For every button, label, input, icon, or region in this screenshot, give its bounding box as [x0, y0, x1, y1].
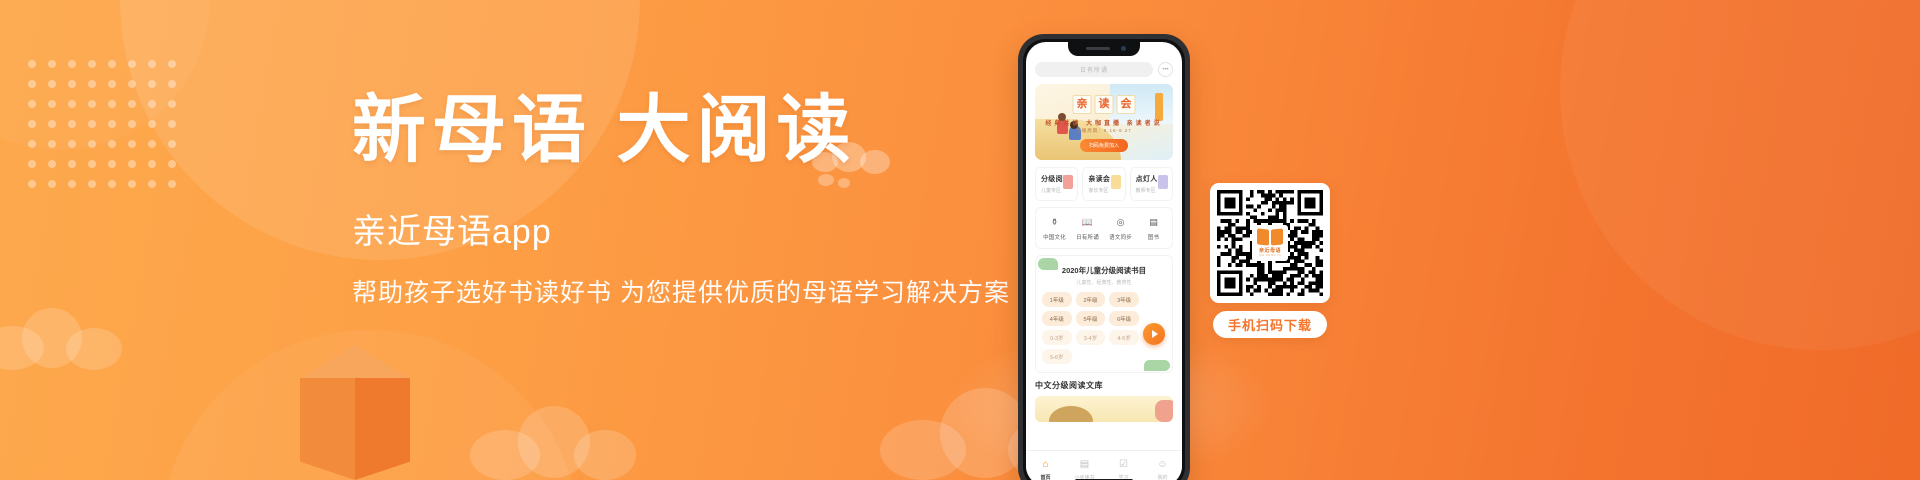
category-card[interactable]: 分级阅读儿童专区: [1035, 167, 1078, 201]
phone-notch: [1068, 42, 1140, 56]
hero-ribbon: [1155, 93, 1163, 121]
dot: [68, 60, 76, 68]
library-blob: [1155, 400, 1173, 422]
speaker-icon: [1086, 47, 1110, 50]
more-menu-icon[interactable]: •••: [1158, 62, 1173, 77]
dot: [28, 180, 36, 188]
cloud-decoration-left: [0, 300, 130, 370]
dot: [28, 100, 36, 108]
dot: [48, 140, 56, 148]
dot: [88, 80, 96, 88]
dot: [88, 100, 96, 108]
tab-label: 首页: [1026, 474, 1065, 480]
age-chip[interactable]: 5-6岁: [1042, 349, 1072, 364]
decorative-circle-top-left-small: [0, 0, 210, 150]
quick-icon-label: 中国文化: [1038, 233, 1071, 241]
booklist-card[interactable]: 2020年儿童分级阅读书目 儿童性、经典性、教育性 1年级2年级3年级4年级5年…: [1035, 255, 1173, 373]
dot: [128, 120, 136, 128]
dot: [128, 80, 136, 88]
dot: [68, 80, 76, 88]
dot: [28, 80, 36, 88]
qr-logo-name: 亲近母语: [1259, 247, 1281, 254]
dot: [128, 160, 136, 168]
hero-join-button[interactable]: 扫码免费加入: [1080, 139, 1128, 152]
grade-chip[interactable]: 2年级: [1076, 292, 1106, 307]
recite-icon: 📖: [1081, 215, 1095, 229]
section-title: 中文分级阅读文库: [1035, 380, 1173, 391]
promo-banner: 新母语 大阅读 亲近母语app 帮助孩子选好书读好书 为您提供优质的母语学习解决…: [0, 0, 1920, 480]
category-card[interactable]: 点灯人教师专区: [1130, 167, 1173, 201]
banner-copy: 新母语 大阅读 亲近母语app 帮助孩子选好书读好书 为您提供优质的母语学习解决…: [352, 88, 1052, 310]
dot: [148, 100, 156, 108]
age-chip[interactable]: 3-4岁: [1076, 330, 1106, 345]
book-yellow-icon: [1111, 175, 1121, 189]
dot: [148, 120, 156, 128]
dot: [88, 60, 96, 68]
qr-code[interactable]: 亲近母语 QIN JIN MU YU: [1217, 190, 1323, 296]
tab-reading[interactable]: ▤小步读书: [1065, 458, 1104, 480]
dot: [108, 120, 116, 128]
grade-chip[interactable]: 1年级: [1042, 292, 1072, 307]
library-card[interactable]: [1035, 396, 1173, 422]
dot: [28, 160, 36, 168]
dot: [148, 80, 156, 88]
dot: [68, 160, 76, 168]
bottom-tab-bar: ⌂首页▤小步读书☑学习☺我的: [1026, 450, 1182, 480]
dot: [68, 140, 76, 148]
library-arc: [1049, 406, 1093, 422]
grade-chip[interactable]: 5年级: [1076, 311, 1106, 326]
phone-screen: 日有所诵 •••: [1026, 42, 1182, 480]
more-dots: •••: [1162, 67, 1168, 73]
quick-icon-label: 图书: [1137, 233, 1170, 241]
scan-download-label: 手机扫码下载: [1228, 315, 1312, 334]
decorative-circle-bottom-left: [160, 330, 580, 480]
dot: [68, 180, 76, 188]
quick-icon-item[interactable]: ▤图书: [1137, 215, 1170, 241]
tab-study[interactable]: ☑学习: [1104, 458, 1143, 480]
cube-decoration: [300, 345, 410, 480]
phone-mockup: 日有所诵 •••: [1018, 34, 1190, 480]
dot: [148, 160, 156, 168]
play-icon[interactable]: [1143, 323, 1165, 345]
scan-download-button[interactable]: 手机扫码下载: [1213, 311, 1327, 338]
dot: [88, 160, 96, 168]
tagline: 帮助孩子选好书读好书 为您提供优质的母语学习解决方案: [352, 276, 1052, 310]
grade-chip[interactable]: 4年级: [1042, 311, 1072, 326]
search-bar: 日有所诵 •••: [1035, 62, 1173, 77]
dot: [68, 120, 76, 128]
dot: [48, 120, 56, 128]
hero-char-2: 读: [1095, 95, 1114, 114]
tab-profile[interactable]: ☺我的: [1143, 458, 1182, 480]
dot: [168, 80, 176, 88]
dot: [88, 120, 96, 128]
dot: [148, 60, 156, 68]
sync-icon: ◎: [1114, 215, 1128, 229]
dot: [108, 80, 116, 88]
dot: [108, 140, 116, 148]
age-chip[interactable]: 4-5岁: [1109, 330, 1139, 345]
app-hero-banner[interactable]: 亲 读 会 经典共读 大咖直播 亲读者说 直播周期：9.16-9.27 扫码免费…: [1035, 84, 1173, 160]
quick-icon-label: 语文同步: [1104, 233, 1137, 241]
books-icon: ▤: [1147, 215, 1161, 229]
quick-icon-item[interactable]: ◎语文同步: [1104, 215, 1137, 241]
dot: [88, 140, 96, 148]
booklist-subtitle: 儿童性、经典性、教育性: [1042, 279, 1166, 286]
booklist-title: 2020年儿童分级阅读书目: [1042, 265, 1166, 276]
dot: [48, 160, 56, 168]
dot: [168, 60, 176, 68]
qr-code-card: 亲近母语 QIN JIN MU YU: [1210, 183, 1330, 303]
quick-icon-label: 日有所诵: [1071, 233, 1104, 241]
search-placeholder: 日有所诵: [1080, 65, 1108, 74]
dot: [128, 180, 136, 188]
dot: [108, 160, 116, 168]
dot: [168, 160, 176, 168]
dot: [108, 60, 116, 68]
dot: [28, 120, 36, 128]
tab-home[interactable]: ⌂首页: [1026, 458, 1065, 480]
hero-char-3: 会: [1117, 95, 1136, 114]
hero-title: 亲 读 会: [1073, 95, 1136, 114]
leaf-decoration-top: [1038, 258, 1058, 270]
profile-icon: ☺: [1156, 458, 1169, 471]
hero-meta: 直播周期：9.16-9.27: [1035, 128, 1173, 134]
cloud-decoration-bottom: [470, 400, 640, 480]
quick-icon-item[interactable]: 📖日有所诵: [1071, 215, 1104, 241]
qr-logo-pinyin: QIN JIN MU YU: [1259, 254, 1281, 257]
dot: [108, 100, 116, 108]
dot: [168, 140, 176, 148]
tab-label: 我的: [1143, 474, 1182, 480]
page-title: 新母语 大阅读: [352, 88, 1052, 174]
dot: [168, 100, 176, 108]
dot: [148, 140, 156, 148]
leaf-decoration-bottom: [1144, 360, 1170, 371]
app-name: 亲近母语app: [352, 210, 1052, 254]
dot: [128, 140, 136, 148]
search-input[interactable]: 日有所诵: [1035, 62, 1153, 77]
dot: [48, 100, 56, 108]
dot: [168, 120, 176, 128]
reading-icon: ▤: [1078, 458, 1091, 471]
category-card[interactable]: 亲读会家长专区: [1082, 167, 1125, 201]
dot: [88, 180, 96, 188]
category-card-row: 分级阅读儿童专区亲读会家长专区点灯人教师专区: [1035, 167, 1173, 201]
grade-chip[interactable]: 6年级: [1109, 311, 1139, 326]
decorative-circle-right: [1560, 0, 1920, 350]
culture-icon: ⚱: [1048, 215, 1062, 229]
home-icon: ⌂: [1039, 458, 1052, 471]
dot: [48, 180, 56, 188]
camera-icon: [1121, 46, 1126, 51]
book-red-icon: [1063, 175, 1073, 189]
phone-bezel: 日有所诵 •••: [1023, 39, 1185, 480]
hero-char-1: 亲: [1073, 95, 1092, 114]
grade-chip[interactable]: 3年级: [1109, 292, 1139, 307]
qr-brand-logo: 亲近母语 QIN JIN MU YU: [1252, 225, 1288, 261]
book-icon: [1257, 229, 1283, 245]
dot: [48, 60, 56, 68]
dot: [28, 60, 36, 68]
dot: [168, 180, 176, 188]
quick-icon-row: ⚱中国文化📖日有所诵◎语文同步▤图书: [1035, 207, 1173, 249]
age-chip[interactable]: 0-3岁: [1042, 330, 1072, 345]
person-purple-icon: [1158, 175, 1168, 189]
dot: [48, 80, 56, 88]
dot: [128, 60, 136, 68]
dot: [68, 100, 76, 108]
quick-icon-item[interactable]: ⚱中国文化: [1038, 215, 1071, 241]
dot: [108, 180, 116, 188]
dot: [148, 180, 156, 188]
study-icon: ☑: [1117, 458, 1130, 471]
dot-grid-pattern: [28, 60, 178, 210]
hero-subtitle: 经典共读 大咖直播 亲读者说: [1035, 118, 1173, 127]
dot: [28, 140, 36, 148]
dot: [128, 100, 136, 108]
